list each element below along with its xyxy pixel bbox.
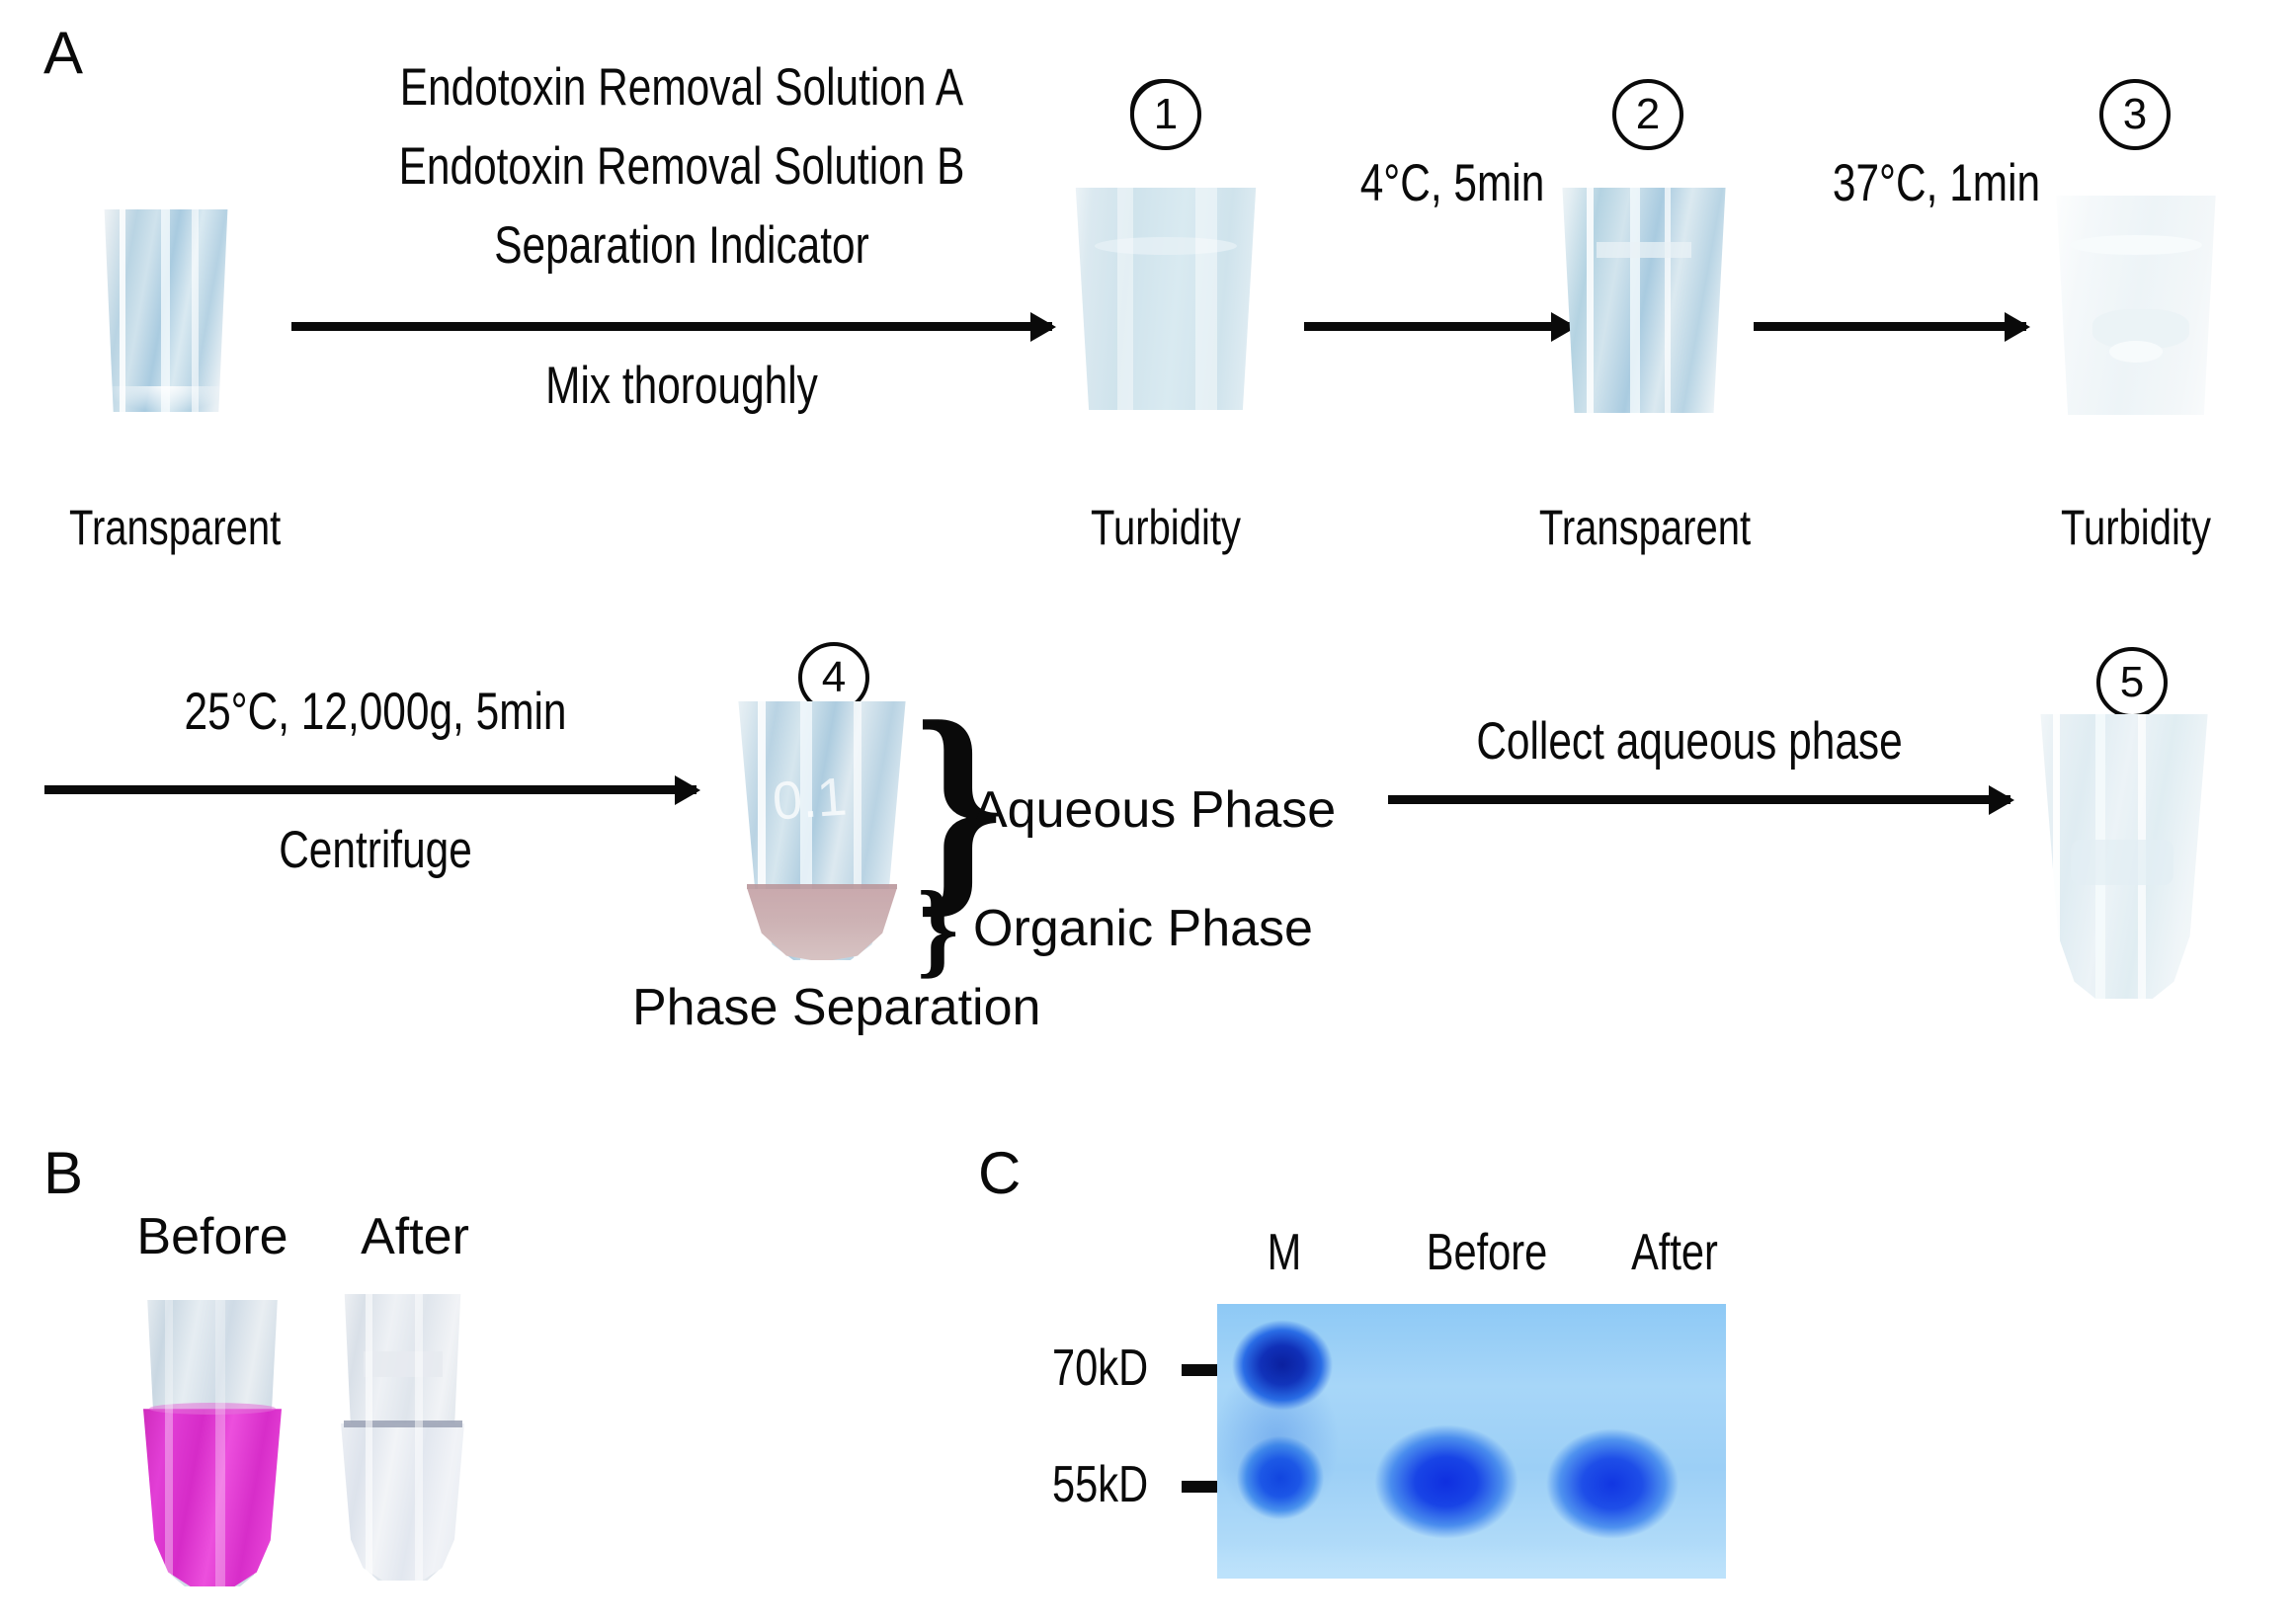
tube-step-5-collected xyxy=(2035,714,2213,999)
arrow-mix xyxy=(291,322,1052,331)
tube-step-1-turbidity xyxy=(1072,188,1260,410)
tube-panelb-after xyxy=(341,1294,464,1581)
step-number-5-circle: 5 xyxy=(2096,647,2168,718)
label-phase-separation: Phase Separation xyxy=(632,978,1027,1037)
arrow1-text-line-3: Separation Indicator xyxy=(287,215,1077,276)
label-turbidity-3: Turbidity xyxy=(2025,499,2247,556)
step-number-2-glyph: 2 xyxy=(1612,79,1683,150)
magenta-fluid xyxy=(143,1409,282,1586)
arrow5-text: Collect aqueous phase xyxy=(1444,711,1934,771)
lane-label-m: M xyxy=(1237,1223,1332,1282)
tube-step-4-phase-separation: 0.1 xyxy=(733,701,911,960)
label-turbidity-1: Turbidity xyxy=(1055,499,1276,556)
marker-label-55kd: 55kD xyxy=(1052,1455,1148,1514)
arrow3-text: 37°C, 1min xyxy=(1778,153,2094,213)
arrow4-text-above: 25°C, 12,000g, 5min xyxy=(99,682,652,742)
tube-step-3-turbidity xyxy=(2053,196,2219,415)
label-aqueous-phase: Aqueous Phase xyxy=(973,780,1336,840)
arrow-centrifuge xyxy=(44,785,697,794)
label-panelb-before: Before xyxy=(104,1207,321,1266)
label-organic-phase: Organic Phase xyxy=(973,899,1313,958)
arrow4-text-below: Centrifuge xyxy=(99,820,652,880)
tube-panelb-before xyxy=(143,1300,282,1586)
brace-organic-phase: } xyxy=(917,876,959,983)
colorless-fluid xyxy=(341,1423,464,1582)
panel-letter-a: A xyxy=(43,24,83,83)
label-transparent-start: Transparent xyxy=(69,499,267,556)
arrow1-text-line-1: Endotoxin Removal Solution A xyxy=(287,57,1077,118)
lane-label-before: Before xyxy=(1400,1223,1574,1282)
arrow2-text: 4°C, 5min xyxy=(1310,153,1595,213)
arrow-collect-aqueous xyxy=(1388,795,2010,804)
step-number-1-glyph: 1 xyxy=(1130,79,1201,150)
panel-letter-c: C xyxy=(978,1144,1021,1203)
tube-start-transparent xyxy=(102,209,230,412)
tube-step-2-transparent xyxy=(1559,188,1729,413)
arrow-4c-5min xyxy=(1304,322,1573,331)
step-number-3-glyph: 3 xyxy=(2099,79,2171,150)
lane-label-after: After xyxy=(1596,1223,1754,1282)
arrow1-text-below: Mix thoroughly xyxy=(287,356,1077,416)
marker-label-70kd: 70kD xyxy=(1052,1339,1148,1398)
arrow1-text-line-2: Endotoxin Removal Solution B xyxy=(287,136,1077,197)
label-transparent-2: Transparent xyxy=(1530,499,1760,556)
sds-page-gel-image xyxy=(1217,1304,1726,1579)
label-panelb-after: After xyxy=(316,1207,514,1266)
arrow-37c-1min xyxy=(1754,322,2026,331)
panel-letter-b: B xyxy=(43,1144,83,1203)
